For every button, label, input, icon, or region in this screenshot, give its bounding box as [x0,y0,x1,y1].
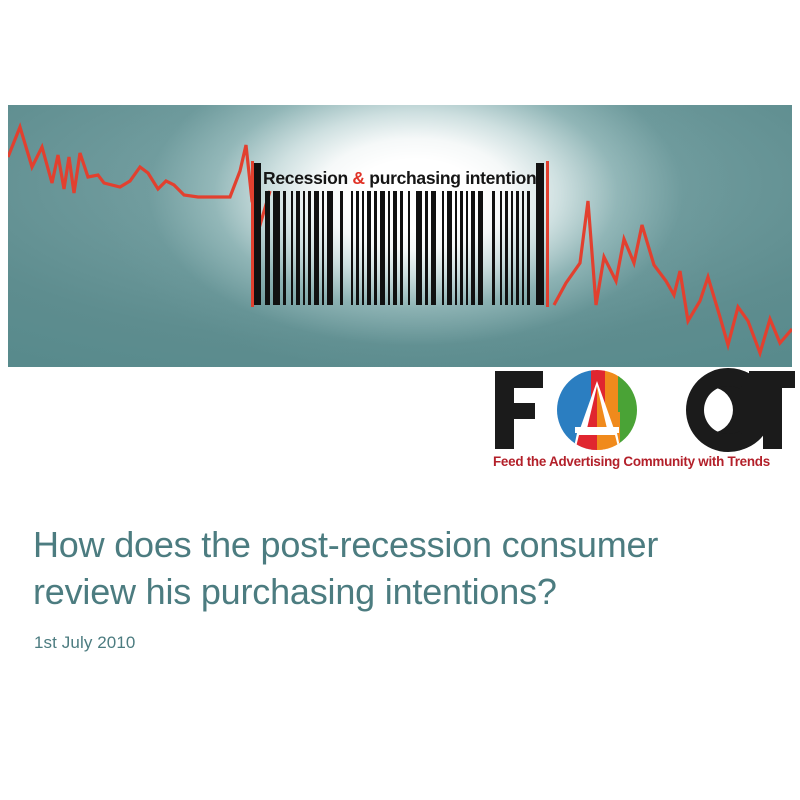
barcode-bars [245,191,553,305]
barcode-title-text: Recession & purchasing intention [263,163,545,193]
slide-canvas: Recession & purchasing intention [0,0,800,800]
trendline-left [8,127,270,225]
barcode-guard-left [254,163,261,305]
barcode-red-guard-right [546,161,549,307]
logo-letter-a-circle [557,370,637,452]
barcode-title-prefix: Recession [263,168,352,188]
fact-logo-tagline: Feed the Advertising Community with Tren… [493,454,793,469]
fact-wordmark [487,367,795,453]
barcode-title-ampersand: & [352,168,364,188]
slide-date: 1st July 2010 [34,633,763,653]
barcode-graphic: Recession & purchasing intention [245,163,553,305]
trendline-right [554,201,792,353]
barcode-stripe-pattern [245,191,553,305]
barcode-guard-right [536,163,544,305]
title-block: How does the post-recession consumer rev… [33,521,763,653]
barcode-title-suffix: purchasing intention [365,168,537,188]
page-title: How does the post-recession consumer rev… [33,521,763,615]
hero-banner: Recession & purchasing intention [8,105,792,367]
fact-logo: Feed the Advertising Community with Tren… [487,367,795,479]
logo-letter-f [495,371,543,449]
